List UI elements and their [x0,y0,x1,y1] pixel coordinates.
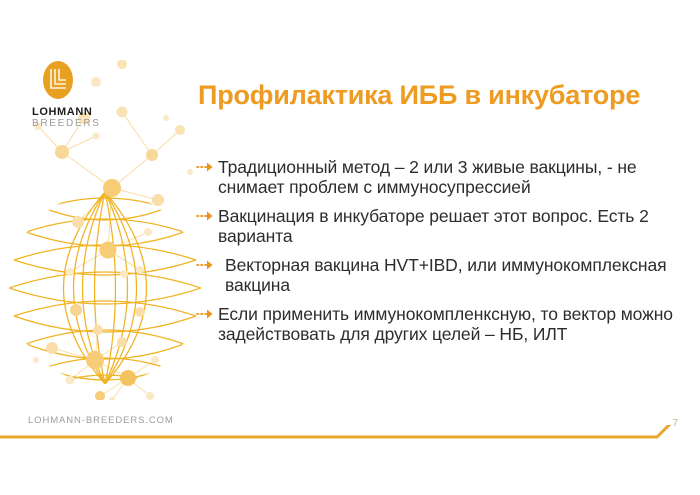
bullet-list: Традиционный метод – 2 или 3 живые вакци… [196,157,696,353]
bullet-item: Векторная вакцина HVT+IBD, или иммуноком… [196,255,696,295]
presentation-slide: LOHMANN BREEDERS Профилактика ИББ в инку… [0,0,700,495]
bullet-text: Если применить иммунокомпленксную, то ве… [218,304,673,344]
dashed-arrow-icon [196,305,216,323]
bullet-text: Вакцинация в инкубаторе решает этот вопр… [218,206,649,246]
dashed-arrow-icon [196,158,216,176]
footer-rule [0,425,700,463]
logo-text-breeders: BREEDERS [32,118,108,130]
bullet-text: Векторная вакцина HVT+IBD, или иммуноком… [225,255,666,295]
footer-url: LOHMANN-BREEDERS.COM [28,415,174,426]
logo-text-lohmann: LOHMANN [32,106,108,118]
page-number: 7 [672,418,678,429]
dashed-arrow-icon [196,256,216,274]
bullet-item: Традиционный метод – 2 или 3 живые вакци… [196,157,696,197]
bullet-item: Если применить иммунокомпленксную, то ве… [196,304,696,344]
lohmann-egg-monogram-icon [36,58,80,102]
slide-title: Профилактика ИББ в инкубаторе [198,79,678,111]
dashed-arrow-icon [196,207,216,225]
bullet-text: Традиционный метод – 2 или 3 живые вакци… [218,157,637,197]
bullet-item: Вакцинация в инкубаторе решает этот вопр… [196,206,696,246]
lohmann-breeders-logo: LOHMANN BREEDERS [28,58,108,130]
